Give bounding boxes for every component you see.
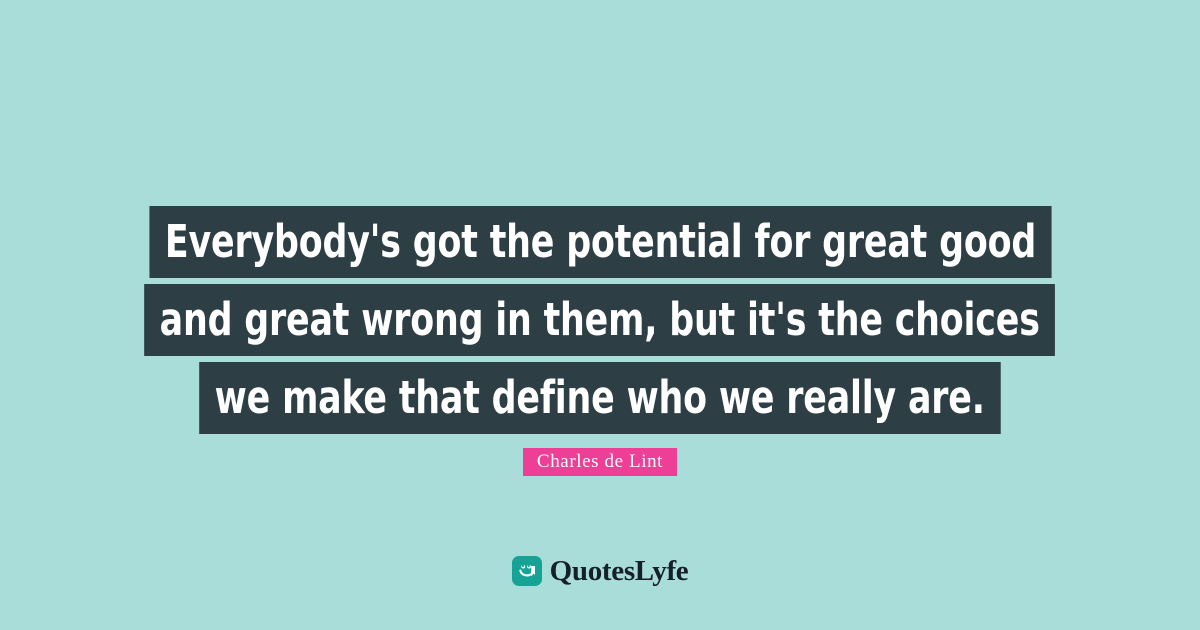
quote-line-wrapper: and great wrong in them, but it's the ch… bbox=[70, 284, 1129, 356]
quote-line-wrapper: Everybody's got the potential for great … bbox=[76, 206, 1125, 278]
brand-logo-text: QuotesLyfe bbox=[550, 556, 689, 586]
quote-line-wrapper: we make that define who we really are. bbox=[134, 362, 1066, 434]
quote-line-1: Everybody's got the potential for great … bbox=[149, 206, 1051, 278]
quote-smiley-icon bbox=[512, 556, 542, 586]
quote-card: Everybody's got the potential for great … bbox=[0, 0, 1200, 630]
author-badge[interactable]: Charles de Lint bbox=[523, 448, 677, 476]
quote-line-2: and great wrong in them, but it's the ch… bbox=[144, 284, 1055, 356]
quote-line-3: we make that define who we really are. bbox=[199, 362, 1000, 434]
author-row: Charles de Lint bbox=[0, 448, 1200, 476]
quote-block: Everybody's got the potential for great … bbox=[0, 206, 1200, 440]
brand-logo[interactable]: QuotesLyfe bbox=[0, 556, 1200, 586]
